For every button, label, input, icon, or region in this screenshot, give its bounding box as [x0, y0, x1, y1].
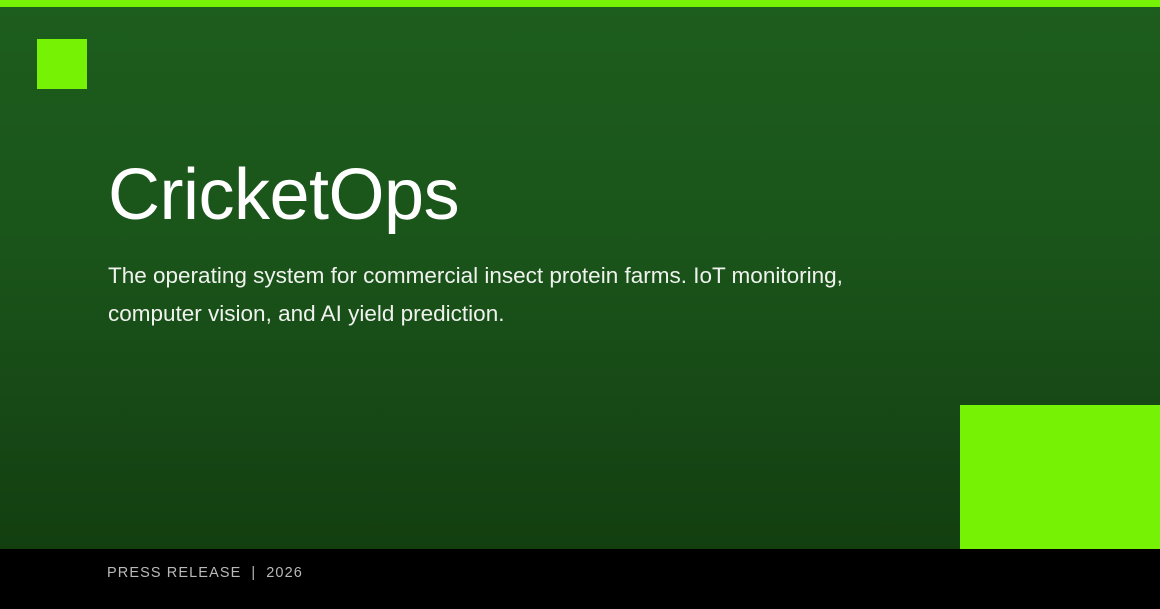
- slide-canvas: CricketOps The operating system for comm…: [0, 7, 1160, 549]
- accent-block-decoration: [960, 405, 1160, 549]
- slide-subtitle: The operating system for commercial inse…: [108, 257, 898, 333]
- presentation-slide: CricketOps The operating system for comm…: [0, 0, 1160, 609]
- footer-year: 2026: [266, 565, 303, 581]
- top-accent-bar: [0, 0, 1160, 7]
- footer-separator: |: [251, 565, 256, 581]
- footer-meta: PRESS RELEASE | 2026: [107, 565, 303, 581]
- slide-text-zone: CricketOps The operating system for comm…: [108, 157, 938, 333]
- slide-title: CricketOps: [108, 157, 938, 235]
- accent-square-decoration: [37, 39, 87, 89]
- footer-label: PRESS RELEASE: [107, 565, 241, 581]
